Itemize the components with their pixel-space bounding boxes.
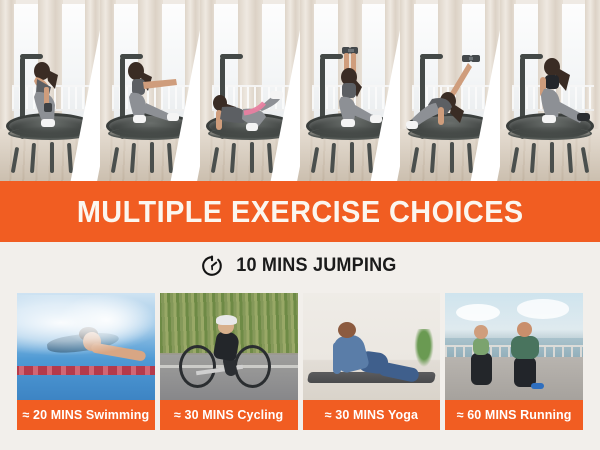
hero-panel-5 xyxy=(400,0,500,181)
water-splash xyxy=(58,293,154,347)
runner-two-top xyxy=(511,336,539,360)
stopwatch-icon xyxy=(200,254,224,278)
yogi-arm xyxy=(333,342,341,374)
cycling-photo xyxy=(160,293,298,400)
card-caption-text: ≈ 60 MINS Running xyxy=(457,408,572,422)
comparison-card-swimming[interactable]: ≈ 20 MINS Swimming xyxy=(17,293,155,430)
trampoline-leg xyxy=(50,142,54,173)
trampoline-leg xyxy=(30,143,36,173)
hero-photo-strip xyxy=(0,0,600,181)
runner-one-top xyxy=(473,338,490,355)
yoga-studio-scene xyxy=(303,293,441,400)
comparison-card-row: ≈ 20 MINS Swimming ≈ 30 M xyxy=(0,293,600,430)
trampoline-leg xyxy=(250,142,254,173)
trampoline-leg xyxy=(581,147,589,173)
pool-scene xyxy=(17,293,155,400)
swimming-photo xyxy=(17,293,155,400)
trampoline-leg xyxy=(330,143,336,173)
lane-divider xyxy=(17,366,155,375)
comparison-card-yoga[interactable]: ≈ 30 MINS Yoga xyxy=(303,293,441,430)
trampoline-leg xyxy=(230,143,236,173)
trampoline-leg xyxy=(111,147,119,173)
trampoline-leg xyxy=(467,143,473,173)
headline-banner: MULTIPLE EXERCISE CHOICES xyxy=(0,181,600,242)
trampoline-leg xyxy=(130,143,136,173)
hero-panel-4 xyxy=(300,0,400,181)
jumping-duration-label: 10 MINS JUMPING xyxy=(236,255,396,277)
trampoline-leg xyxy=(511,147,519,173)
cloud xyxy=(517,299,569,318)
comparison-card-cycling[interactable]: ≈ 30 MINS Cycling xyxy=(160,293,298,430)
trampoline-leg xyxy=(311,147,319,173)
exerciser-figure xyxy=(324,43,384,147)
running-photo xyxy=(445,293,583,400)
trampoline-leg xyxy=(450,142,454,173)
country-road-scene xyxy=(160,293,298,400)
exerciser-figure xyxy=(402,49,488,145)
trampoline-leg xyxy=(367,143,373,173)
cyclist-helmet xyxy=(216,315,237,325)
hero-panel-1 xyxy=(0,0,100,181)
trampoline-leg xyxy=(67,143,73,173)
hero-panel-3 xyxy=(200,0,300,181)
card-caption-text: ≈ 30 MINS Yoga xyxy=(325,408,418,422)
trampoline-leg xyxy=(530,143,536,173)
handlebar-top xyxy=(220,54,243,59)
runner-one-head xyxy=(474,325,488,339)
trampoline-leg xyxy=(11,147,19,173)
page-title: MULTIPLE EXERCISE CHOICES xyxy=(77,196,524,227)
runner-shoe xyxy=(531,383,545,389)
runner-one-legs xyxy=(471,353,492,385)
trampoline-leg xyxy=(430,143,436,173)
card-caption-bar: ≈ 60 MINS Running xyxy=(445,400,583,430)
trampoline-leg xyxy=(167,143,173,173)
card-caption-text: ≈ 20 MINS Swimming xyxy=(23,408,150,422)
card-caption-bar: ≈ 20 MINS Swimming xyxy=(17,400,155,430)
exerciser-figure xyxy=(24,59,76,145)
card-caption-bar: ≈ 30 MINS Cycling xyxy=(160,400,298,430)
card-caption-bar: ≈ 30 MINS Yoga xyxy=(303,400,441,430)
promo-infographic: MULTIPLE EXERCISE CHOICES 10 MINS JUMPIN… xyxy=(0,0,600,450)
exerciser-figure xyxy=(120,59,186,147)
hero-panel-2 xyxy=(100,0,200,181)
exerciser-figure xyxy=(522,53,594,147)
trampoline-leg xyxy=(567,143,573,173)
hero-panel-6 xyxy=(500,0,600,181)
comparison-card-running[interactable]: ≈ 60 MINS Running xyxy=(445,293,583,430)
trampoline-leg xyxy=(267,143,273,173)
runner-two-head xyxy=(517,322,532,337)
cloud xyxy=(456,304,500,321)
house-plant xyxy=(413,329,435,370)
trampoline-leg xyxy=(411,147,419,173)
yoga-photo xyxy=(303,293,441,400)
trampoline-leg xyxy=(211,147,219,173)
exerciser-figure xyxy=(210,83,286,141)
seaside-promenade-scene xyxy=(445,293,583,400)
jumping-duration-row: 10 MINS JUMPING xyxy=(0,250,600,282)
card-caption-text: ≈ 30 MINS Cycling xyxy=(174,408,283,422)
